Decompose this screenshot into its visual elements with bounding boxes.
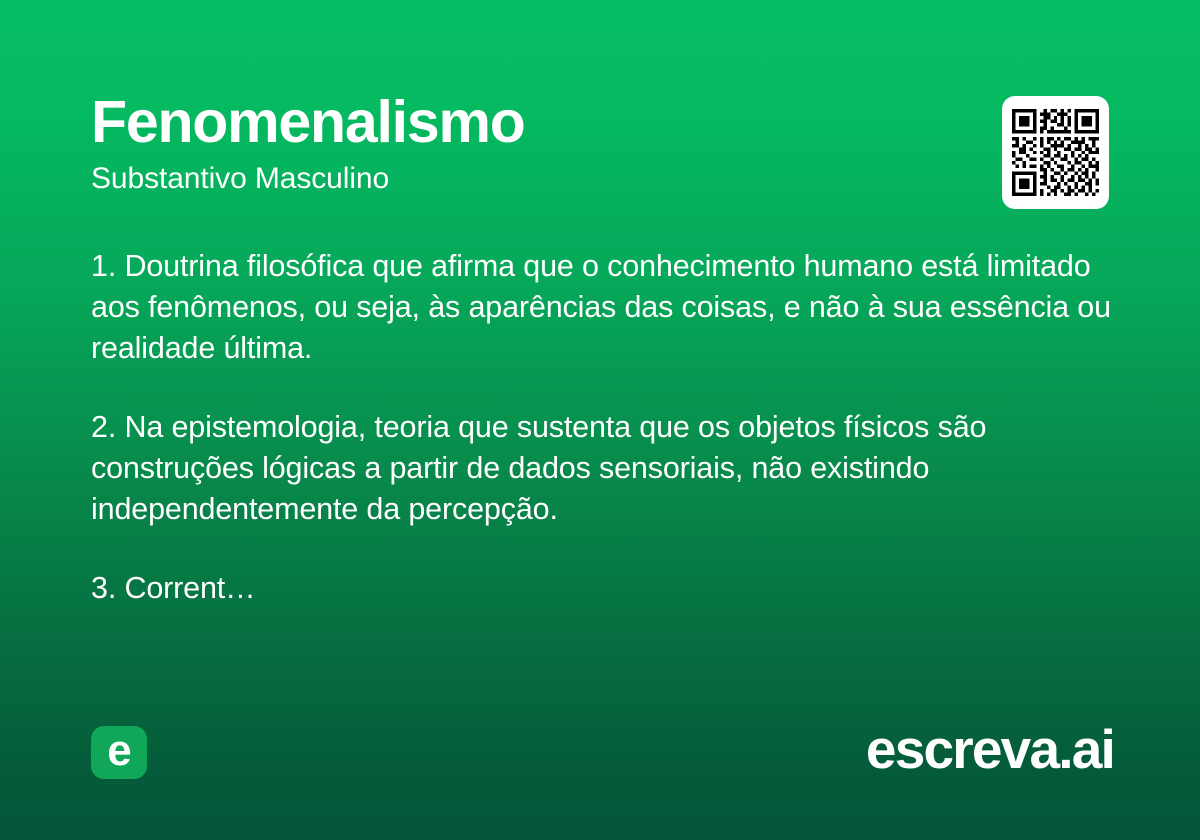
definition-card: Fenomenalismo Substantivo Masculino: [0, 0, 1200, 840]
card-header: Fenomenalismo Substantivo Masculino: [91, 92, 1109, 195]
page-title: Fenomenalismo: [91, 92, 1109, 152]
logo-letter: e: [107, 729, 130, 773]
definition-item: 1. Doutrina filosófica que afirma que o …: [91, 246, 1116, 369]
escreva-logo-icon[interactable]: e: [91, 726, 147, 779]
word-class-label: Substantivo Masculino: [91, 162, 1109, 195]
brand-wordmark: escreva.ai: [866, 722, 1114, 777]
definition-item: 3. Corrent…: [91, 568, 1116, 609]
qr-code-icon[interactable]: [1002, 96, 1109, 209]
definition-item: 2. Na epistemologia, teoria que sustenta…: [91, 407, 1116, 530]
definition-list: 1. Doutrina filosófica que afirma que o …: [91, 246, 1116, 609]
